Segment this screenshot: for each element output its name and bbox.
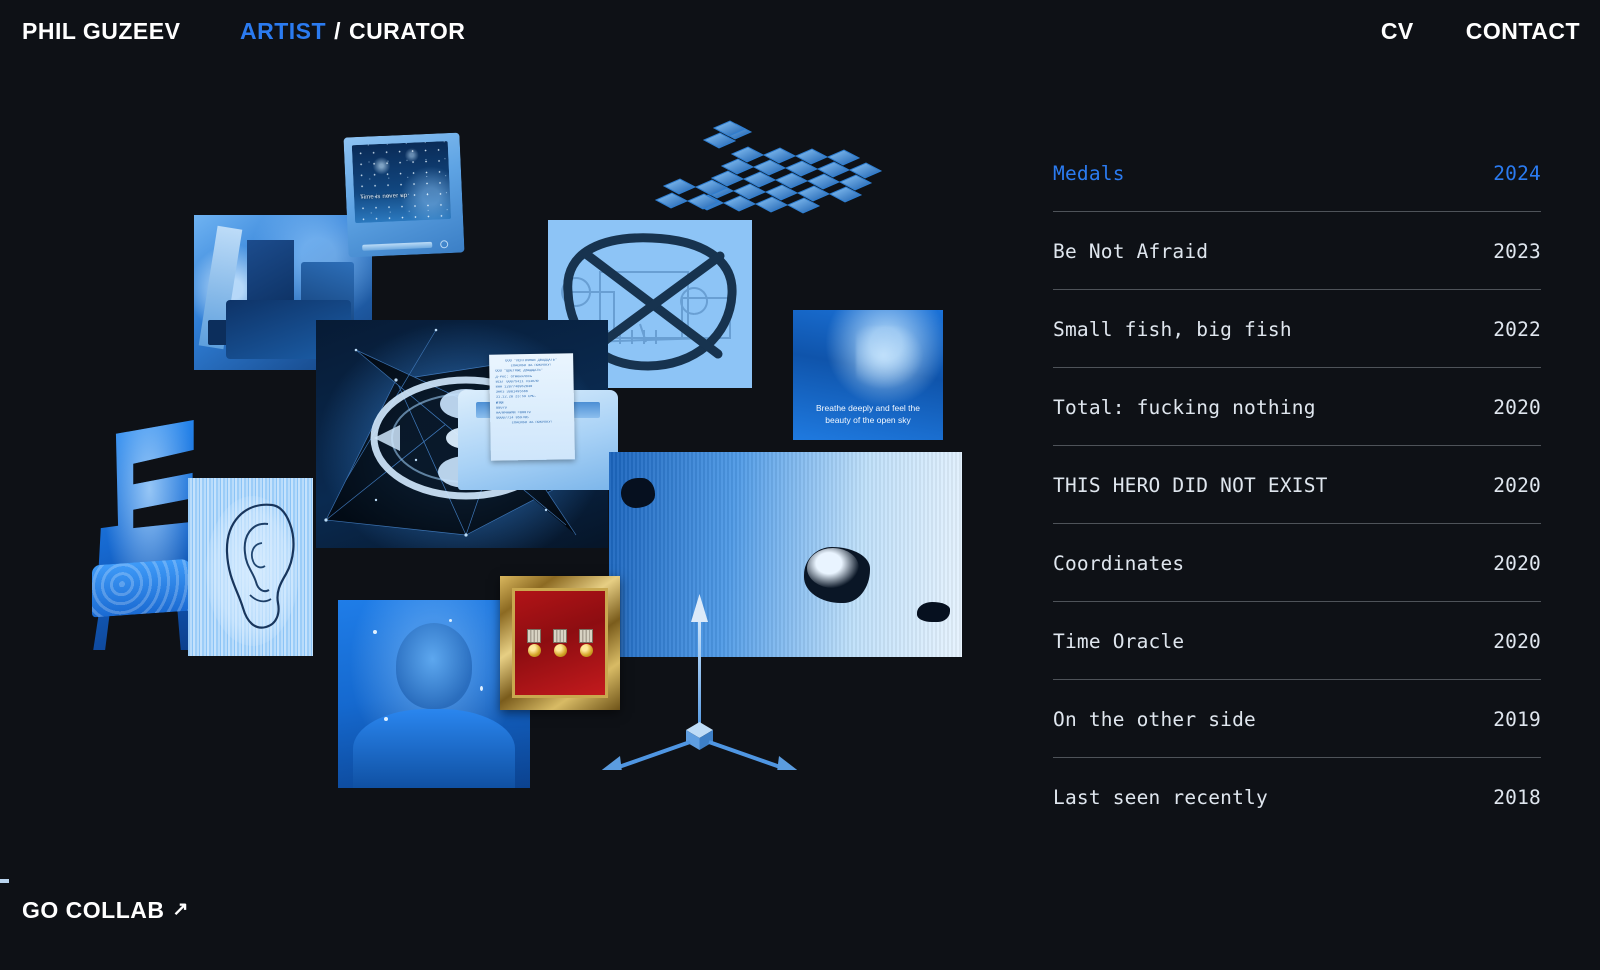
work-row-small-fish-big-fish[interactable]: Small fish, big fish 2022 (1053, 318, 1541, 368)
lattice-structure-render[interactable] (652, 120, 902, 230)
go-collab-button[interactable]: GO COLLAB ↗ (22, 897, 189, 924)
medal-ribbon (553, 629, 567, 643)
work-title: Total: fucking nothing (1053, 396, 1316, 419)
site-header: PHIL GUZEEV ARTIST / CURATOR CV CONTACT (0, 0, 1600, 62)
work-title: Be Not Afraid (1053, 240, 1208, 263)
row-gap (1053, 524, 1541, 552)
portrait-spark (373, 630, 377, 634)
crt-monitor-photo[interactable]: Time is never up (343, 133, 464, 258)
work-row-time-oracle[interactable]: Time Oracle 2020 (1053, 630, 1541, 680)
nav-item-curator[interactable]: CURATOR (349, 18, 465, 45)
sky-caption-line-1: Breathe deeply and feel the (801, 402, 935, 414)
work-year: 2023 (1493, 240, 1541, 263)
work-year: 2020 (1493, 396, 1541, 419)
medal-2 (553, 629, 567, 657)
row-gap (1053, 212, 1541, 240)
work-year: 2020 (1493, 630, 1541, 653)
lattice-svg (652, 120, 902, 230)
work-title: On the other side (1053, 708, 1256, 731)
primary-nav: CV CONTACT (1381, 18, 1580, 45)
water-hole-1 (621, 478, 655, 508)
portrait-body (353, 709, 514, 788)
go-collab-label: GO COLLAB (22, 897, 165, 924)
scroll-indicator-tick (0, 879, 9, 883)
ear-icon (210, 496, 302, 636)
work-year: 2020 (1493, 474, 1541, 497)
axis-gizmo-svg (590, 590, 810, 770)
workshop-detail-1 (247, 240, 293, 321)
work-title: Medals (1053, 162, 1125, 185)
work-row-medals[interactable]: Medals 2024 (1053, 162, 1541, 212)
water-hole-3 (917, 602, 950, 622)
work-year: 2019 (1493, 708, 1541, 731)
work-year: 2018 (1493, 786, 1541, 809)
medal-disc (554, 644, 567, 657)
work-title: Coordinates (1053, 552, 1184, 575)
work-title: Last seen recently (1053, 786, 1268, 809)
work-year: 2024 (1493, 162, 1541, 185)
water-hole-2-highlight (807, 548, 859, 588)
nav-item-cv[interactable]: CV (1381, 18, 1414, 45)
nav-item-contact[interactable]: CONTACT (1466, 18, 1580, 45)
page-root: PHIL GUZEEV ARTIST / CURATOR CV CONTACT (0, 0, 1600, 970)
row-gap (1053, 758, 1541, 786)
work-row-total-fucking-nothing[interactable]: Total: fucking nothing 2020 (1053, 396, 1541, 446)
medal-disc (528, 644, 541, 657)
sky-cloud (856, 326, 925, 391)
receipt-line: СПАСИБО ЗА ПОКУПКУ! (496, 421, 568, 427)
medal-ribbon (527, 629, 541, 643)
medal-1 (527, 629, 541, 657)
nav-item-artist[interactable]: ARTIST (240, 18, 326, 45)
work-collage: Time is never up (60, 100, 1000, 830)
works-list: Medals 2024 Be Not Afraid 2023 Small fis… (1053, 162, 1541, 835)
role-nav: ARTIST / CURATOR (240, 18, 465, 45)
work-title: THIS HERO DID NOT EXIST (1053, 474, 1328, 497)
sky-caption-line-2: beauty of the open sky (801, 414, 935, 426)
work-row-coordinates[interactable]: Coordinates 2020 (1053, 552, 1541, 602)
sky-card-caption: Breathe deeply and feel the beauty of th… (801, 402, 935, 426)
work-title: Time Oracle (1053, 630, 1184, 653)
axis-gizmo-render[interactable] (590, 590, 810, 770)
portrait-head (396, 623, 473, 709)
portrait-spark (384, 717, 388, 721)
open-sky-card[interactable]: Breathe deeply and feel the beauty of th… (793, 310, 943, 440)
row-gap (1053, 368, 1541, 396)
ear-illustration-panel[interactable] (188, 478, 313, 656)
work-year: 2020 (1493, 552, 1541, 575)
row-gap (1053, 290, 1541, 318)
work-year: 2022 (1493, 318, 1541, 341)
row-gap (1053, 602, 1541, 630)
arrow-up-right-icon: ↗ (173, 900, 189, 919)
work-title: Small fish, big fish (1053, 318, 1292, 341)
printed-receipt[interactable]: ООО "ЛЕНТОЧНЫЙ ДВАДЦАТЬ" СПАСИБО ЗА ПОКУ… (489, 353, 575, 460)
workshop-detail-3 (208, 320, 283, 345)
work-row-last-seen-recently[interactable]: Last seen recently 2018 (1053, 786, 1541, 835)
work-row-this-hero-did-not-exist[interactable]: THIS HERO DID NOT EXIST 2020 (1053, 474, 1541, 524)
monitor-screen: Time is never up (352, 141, 451, 223)
monitor-screen-noise (352, 141, 451, 223)
antique-chair-seat (92, 559, 192, 618)
work-row-on-the-other-side[interactable]: On the other side 2019 (1053, 708, 1541, 758)
row-gap (1053, 446, 1541, 474)
portrait-spark (480, 686, 483, 691)
portrait-spark (449, 619, 452, 622)
work-row-be-not-afraid[interactable]: Be Not Afraid 2023 (1053, 240, 1541, 290)
role-separator: / (326, 18, 349, 45)
brand-logo[interactable]: PHIL GUZEEV (22, 18, 180, 45)
row-gap (1053, 680, 1541, 708)
